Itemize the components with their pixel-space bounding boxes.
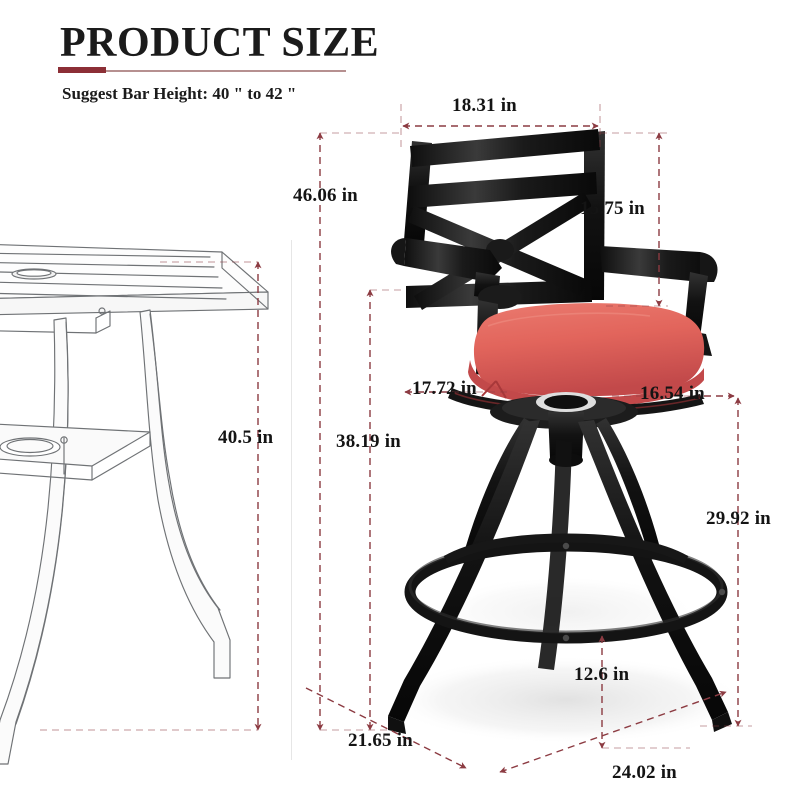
dimension-label-footrest-height: 12.6 in (574, 664, 629, 686)
dimension-label-seat-depth: 17.72 in (412, 378, 477, 400)
product-size-infographic: PRODUCT SIZE Suggest Bar Height: 40 " to… (0, 0, 800, 800)
dimension-label-table-height: 40.5 in (218, 427, 273, 449)
bar-table-line-drawing (0, 244, 268, 764)
dimension-label-seat-width: 16.54 in (640, 383, 705, 405)
dimension-label-base-width: 24.02 in (612, 762, 677, 784)
dimension-label-overall-height: 46.06 in (293, 185, 358, 207)
bar-stool-illustration (386, 129, 746, 744)
dimension-label-backrest-height: 15.75 in (580, 198, 645, 220)
dimension-label-seat-height: 29.92 in (706, 508, 771, 530)
dimension-label-base-depth: 21.65 in (348, 730, 413, 752)
dimline-arm-height (370, 290, 404, 730)
dimension-label-back-width: 18.31 in (452, 95, 517, 117)
dimension-label-arm-height: 38.19 in (336, 431, 401, 453)
